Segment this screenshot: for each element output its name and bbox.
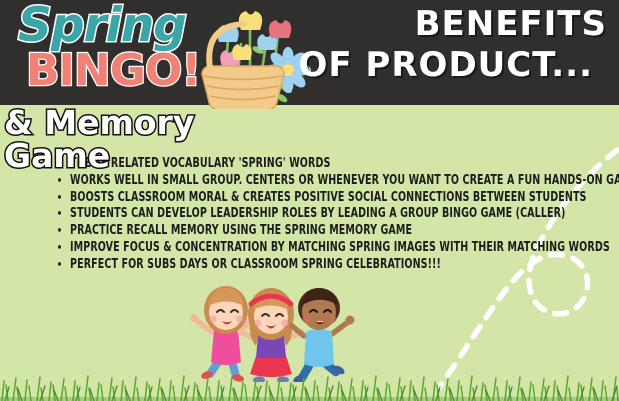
list-item: STUDENTS CAN DEVELOP LEADERSHIP ROLES BY… bbox=[58, 205, 598, 222]
child-middle bbox=[240, 288, 302, 382]
flower-basket-icon bbox=[186, 4, 314, 109]
three-children-icon bbox=[186, 276, 368, 382]
poster-canvas: Spring BINGO! & Memory Game BENEFITS OF … bbox=[0, 0, 619, 401]
list-item: BOOSTS CLASSROOM MORAL & CREATES POSITIV… bbox=[58, 189, 598, 206]
list-item: PRACTICE RECALL MEMORY USING THE SPRING … bbox=[58, 222, 598, 239]
list-item: PERFECT FOR SUBS DAYS OR CLASSROOM SPRIN… bbox=[58, 256, 598, 273]
list-item: IMPROVE FOCUS & CONCENTRATION BY MATCHIN… bbox=[58, 239, 598, 256]
child-right bbox=[292, 288, 355, 382]
benefits-list: THEME RELATED VOCABULARY 'SPRING' WORDS … bbox=[58, 155, 598, 273]
list-item: THEME RELATED VOCABULARY 'SPRING' WORDS bbox=[58, 155, 598, 172]
list-item: WORKS WELL IN SMALL GROUP. CENTERS OR WH… bbox=[58, 172, 598, 189]
grass-border-icon bbox=[0, 369, 619, 401]
